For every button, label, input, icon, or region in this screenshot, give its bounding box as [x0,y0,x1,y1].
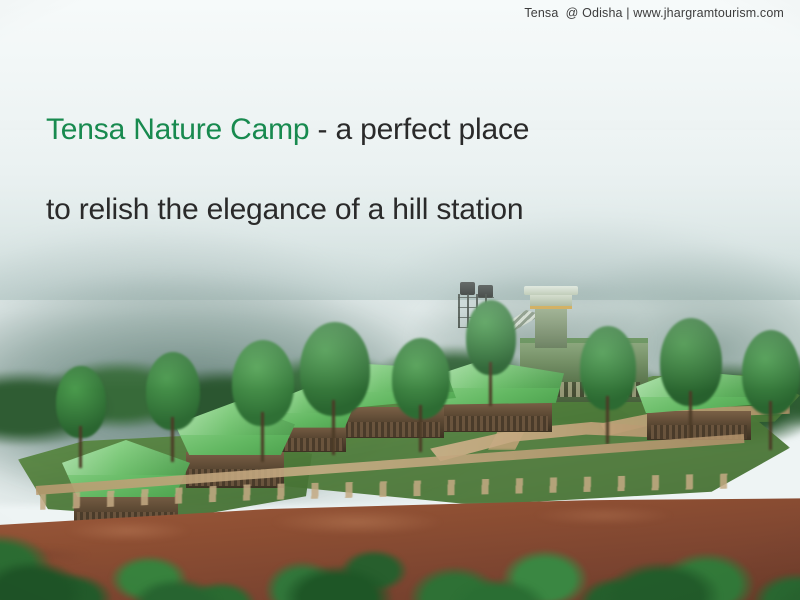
camp-tree [56,366,106,466]
promotional-slide: Tensa @ Odisha | www.jhargramtourism.com… [0,0,800,600]
attribution-bar: Tensa @ Odisha | www.jhargramtourism.com [0,0,800,26]
watchtower-body [535,309,567,348]
title-line-1: Tensa Nature Camp - a perfect place [46,110,686,149]
tagline-part-1: - a perfect place [309,113,529,146]
camp-tree [392,338,450,450]
title-line-2: to relish the elegance of a hill station [46,190,686,229]
camp-tree [580,326,636,442]
camp-tree [742,330,800,448]
camp-tree [466,300,516,404]
watchtower [528,286,574,348]
camp-tree [146,352,200,460]
camp-tree [232,340,294,460]
slide-title: Tensa Nature Camp - a perfect place to r… [46,68,686,271]
foreground-tree-canopy-lower [0,508,800,600]
camp-name: Tensa Nature Camp [46,113,309,146]
camp-tree [300,322,370,452]
watchtower-deck [530,295,572,309]
camp-tree [660,318,722,440]
attribution-text: Tensa @ Odisha | www.jhargramtourism.com [524,6,784,20]
cottage-veranda [444,416,547,430]
watchtower-roof [524,286,578,295]
